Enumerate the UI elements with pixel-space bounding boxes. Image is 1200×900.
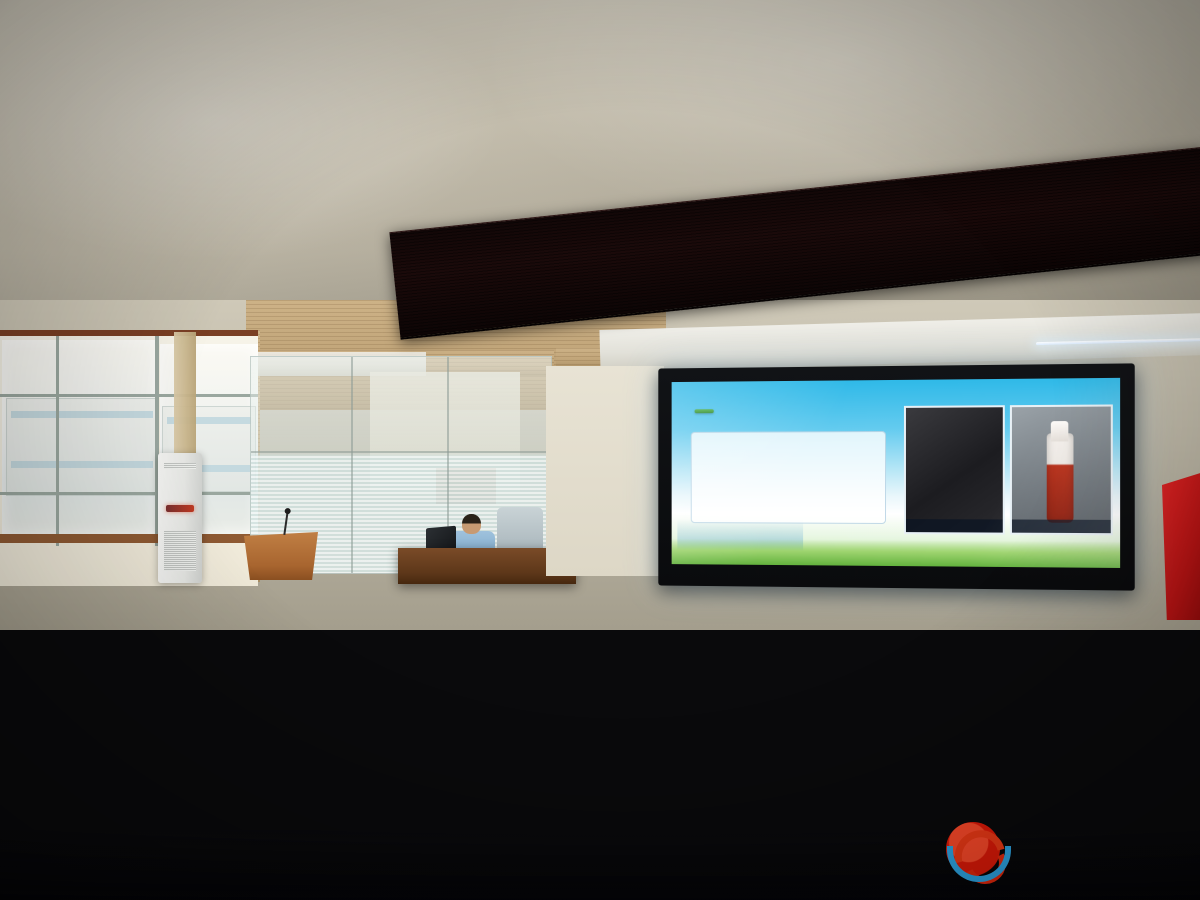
building-window-band: [11, 461, 153, 468]
slide-body-textbox: [691, 431, 886, 524]
slide-paragraph-1: [698, 437, 878, 438]
ecig-liquid-vial-photo: [1010, 404, 1113, 535]
slide-paragraph-3: [698, 438, 878, 439]
watermark: [946, 818, 1192, 886]
ac-display-panel: [166, 505, 194, 512]
exterior-building: [6, 398, 158, 496]
building-window-band: [11, 411, 153, 418]
photo-scene: [0, 0, 1200, 900]
glass-frame-h: [251, 451, 551, 453]
ac-vent: [164, 463, 196, 469]
slide-topic-badge: [695, 409, 714, 413]
vial-cap: [1051, 421, 1068, 441]
window-mullion-h: [0, 492, 258, 495]
ecig-device-pile: [906, 407, 1003, 408]
liquid-vial: [1047, 433, 1074, 523]
window-mullion-h: [0, 394, 258, 397]
logo-blue-arc: [947, 846, 1011, 882]
ecig-devices-photo: [904, 405, 1005, 534]
slide-paragraph-2: [698, 438, 878, 439]
window-mullion-v: [56, 336, 59, 546]
cngansu-logo-icon: [946, 822, 1000, 876]
